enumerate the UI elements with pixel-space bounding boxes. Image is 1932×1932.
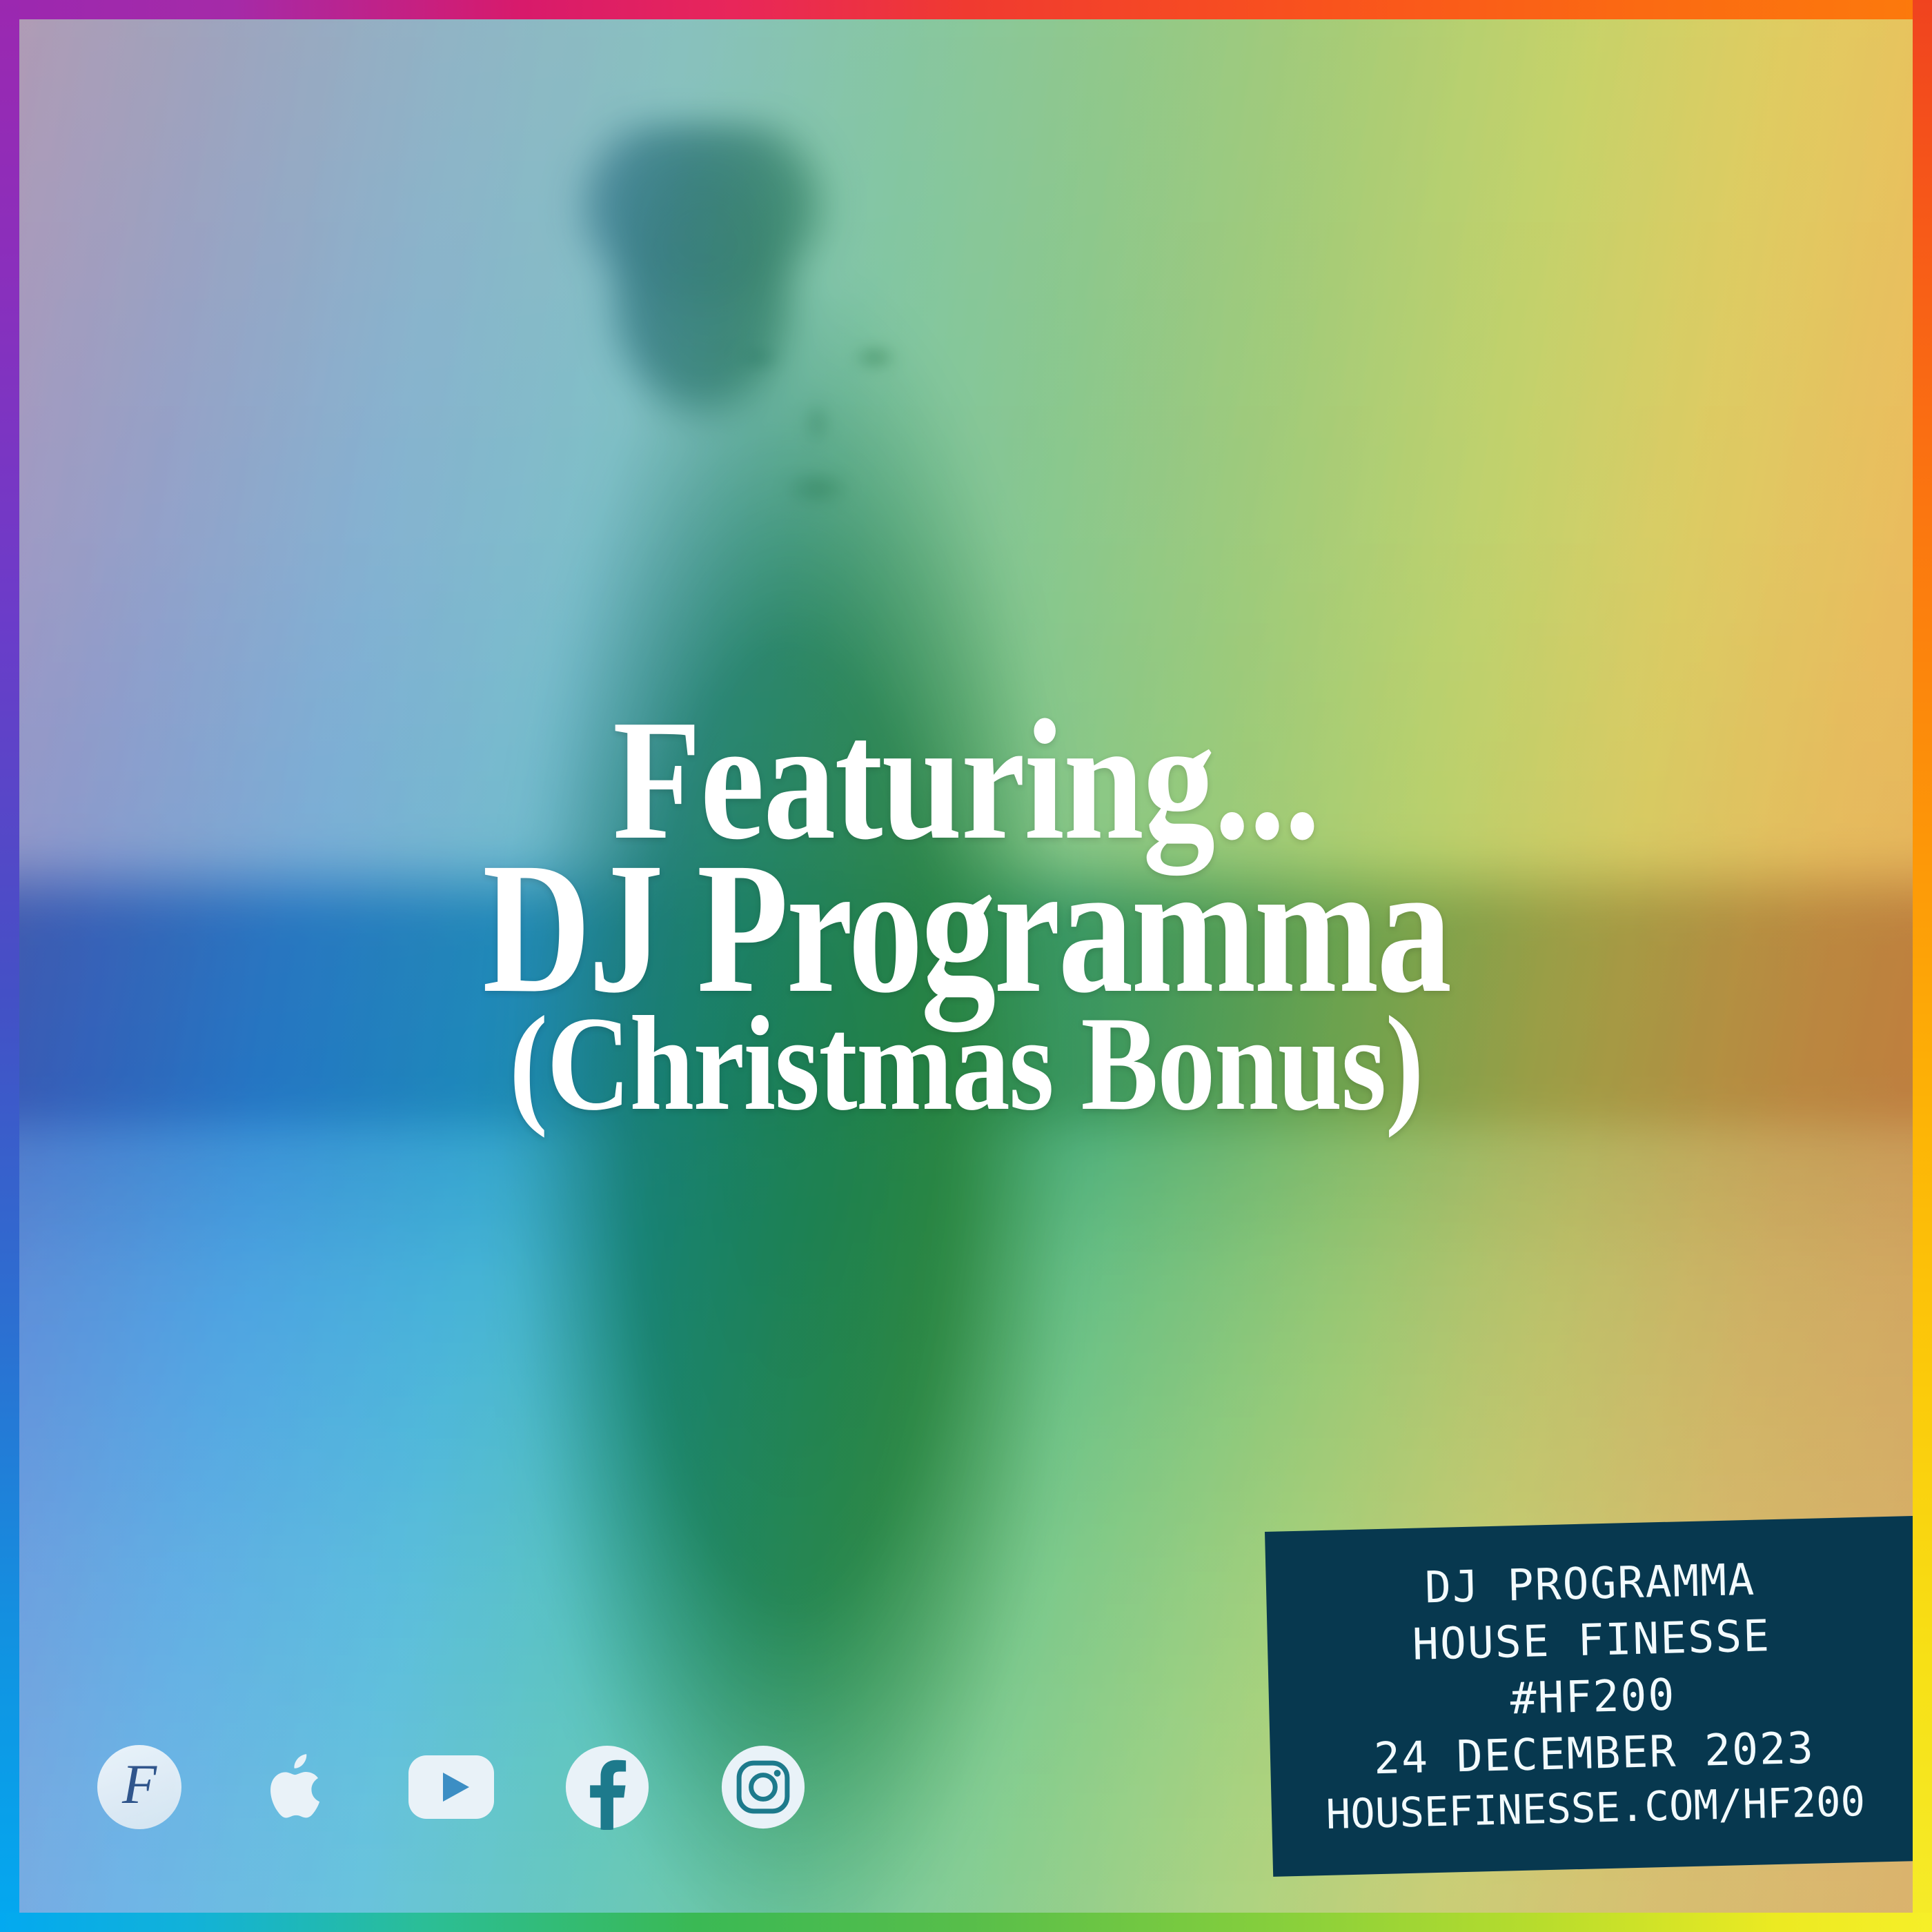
instagram-icon[interactable] (719, 1743, 807, 1831)
info-card: DJ PROGRAMMA HOUSE FINESSE #HF200 24 DEC… (1265, 1515, 1913, 1877)
frame-edge-left (0, 0, 19, 1932)
social-links-row: F (95, 1743, 807, 1831)
poster-artwork: Featuring... DJ Programma (Christmas Bon… (0, 0, 1932, 1932)
house-finesse-logo-icon[interactable]: F (95, 1743, 184, 1831)
info-card-text: DJ PROGRAMMA HOUSE FINESSE #HF200 24 DEC… (1265, 1548, 1913, 1842)
script-f-glyph: F (122, 1756, 157, 1813)
artwork-canvas: Featuring... DJ Programma (Christmas Bon… (19, 19, 1913, 1913)
youtube-icon[interactable] (407, 1743, 495, 1831)
apple-icon[interactable] (251, 1743, 339, 1831)
logo-badge: F (97, 1745, 181, 1829)
frame-edge-top (0, 0, 1932, 19)
facebook-icon[interactable] (563, 1743, 651, 1831)
frame-edge-bottom (0, 1913, 1932, 1932)
frame-edge-right (1913, 0, 1932, 1932)
